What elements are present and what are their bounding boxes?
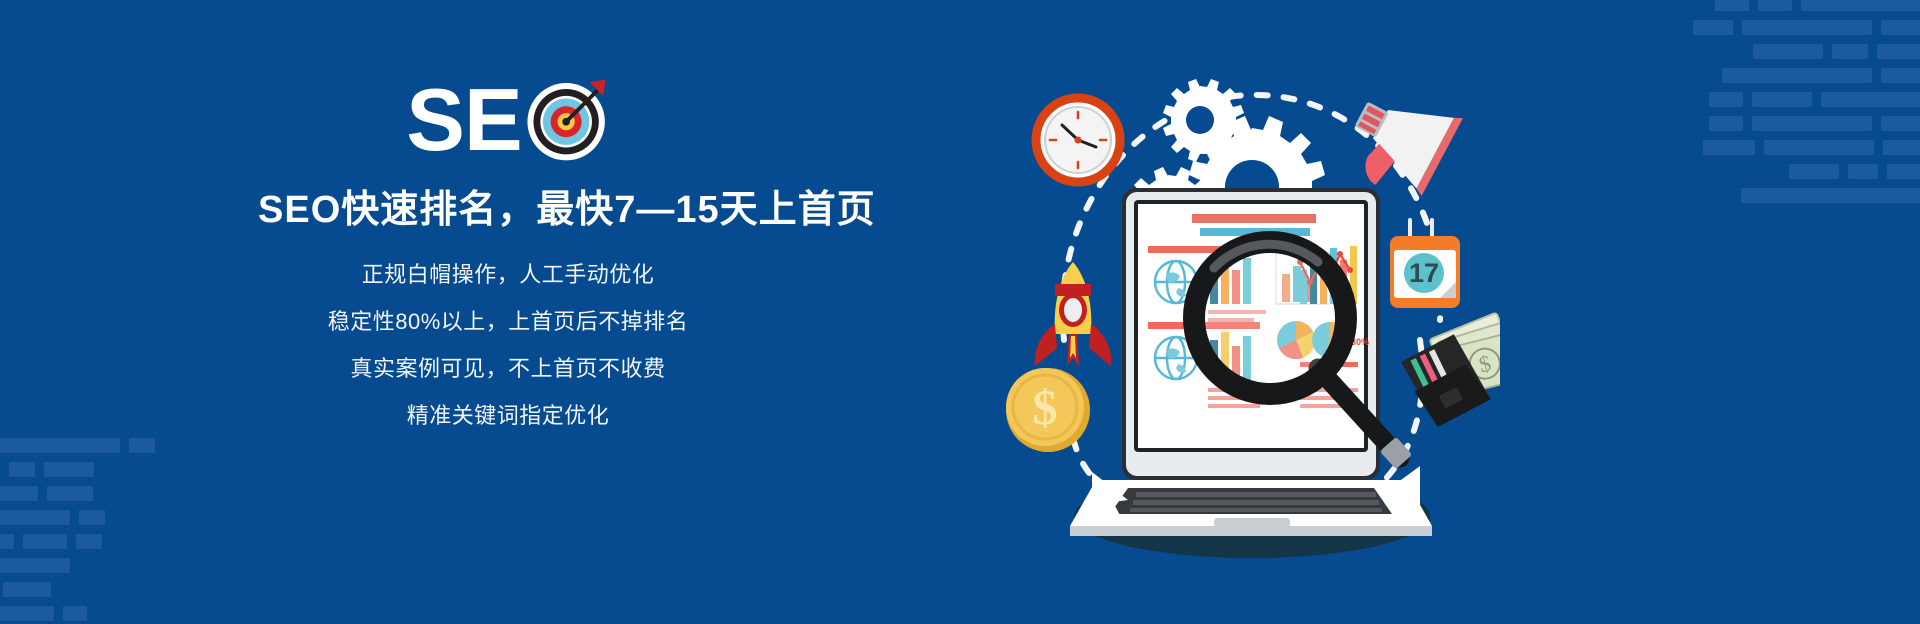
decor-code-block — [1883, 140, 1920, 155]
decor-code-row — [0, 606, 200, 621]
decor-code-row — [1670, 188, 1920, 203]
seo-illustration: 17 $ — [1000, 40, 1500, 600]
decor-code-block — [1693, 20, 1733, 35]
seo-promo-banner: SE SEO快速排名，最快7—15天上首页 — [0, 0, 1920, 624]
decor-code-block — [0, 558, 70, 573]
decor-code-row — [1670, 68, 1920, 83]
decor-code-block — [1789, 164, 1839, 179]
decor-code-block — [1832, 44, 1868, 59]
feature-line: 真实案例可见，不上首页不收费 — [258, 358, 758, 380]
dartboard-target-icon — [524, 77, 610, 163]
decor-code-block — [63, 606, 87, 621]
decor-code-block — [1741, 188, 1920, 203]
decor-code-row — [1670, 0, 1920, 11]
decor-code-row — [0, 510, 200, 525]
feature-line: 正规白帽操作，人工手动优化 — [258, 264, 758, 286]
decor-code-block — [1881, 116, 1920, 131]
decor-code-block — [79, 510, 105, 525]
decor-code-block — [1848, 164, 1878, 179]
decor-code-row — [1670, 164, 1920, 179]
decor-code-block — [47, 486, 93, 501]
decor-code-block — [1753, 44, 1823, 59]
decor-code-block — [1709, 92, 1743, 107]
decor-code-block — [76, 534, 102, 549]
decor-code-block — [1877, 44, 1920, 59]
decor-code-block — [1764, 140, 1874, 155]
feature-bullet-list: 正规白帽操作，人工手动优化 稳定性80%以上，上首页后不掉排名 真实案例可见，不… — [258, 264, 758, 427]
decor-code-row — [1670, 140, 1920, 155]
decor-code-row — [0, 582, 200, 597]
wallet-cash-icon: $ — [1395, 309, 1500, 431]
decor-code-row — [0, 534, 200, 549]
decor-code-block — [0, 510, 70, 525]
decor-code-row — [1670, 92, 1920, 107]
decor-code-block — [44, 462, 94, 477]
decor-code-block — [23, 534, 67, 549]
decor-code-block — [1752, 92, 1812, 107]
megaphone-icon — [1335, 75, 1463, 206]
decor-code-block — [129, 438, 155, 453]
decor-code-row — [0, 438, 200, 453]
decor-code-block — [1752, 116, 1872, 131]
rocket-icon — [1035, 262, 1112, 366]
decor-code-block — [1742, 20, 1872, 35]
decor-code-block — [1801, 0, 1920, 11]
decor-code-block — [1881, 68, 1920, 83]
decor-code-block — [9, 462, 35, 477]
decor-code-row — [0, 462, 200, 477]
dollar-coin-icon: $ — [1006, 368, 1090, 452]
page-headline: SEO快速排名，最快7—15天上首页 — [258, 188, 758, 234]
decor-code-block — [3, 582, 51, 597]
feature-line: 精准关键词指定优化 — [258, 405, 758, 427]
decor-code-block — [0, 534, 14, 549]
seo-logo: SE — [258, 74, 758, 166]
decor-code-block — [0, 486, 38, 501]
calendar-icon: 17 — [1390, 220, 1460, 308]
feature-line: 稳定性80%以上，上首页后不掉排名 — [258, 311, 758, 333]
calendar-day-label: 17 — [1409, 258, 1439, 288]
decor-code-row — [0, 486, 200, 501]
decor-code-row — [1670, 20, 1920, 35]
decor-code-block — [1703, 140, 1755, 155]
decor-code-block — [1709, 116, 1743, 131]
text-content-column: SE SEO快速排名，最快7—15天上首页 — [258, 74, 758, 427]
decor-code-block — [1715, 0, 1749, 11]
decor-code-block — [0, 438, 120, 453]
decor-code-block — [0, 606, 54, 621]
dollar-sign-label: $ — [1033, 379, 1058, 435]
decor-code-row — [1670, 44, 1920, 59]
decor-code-block — [1821, 92, 1920, 107]
decor-code-row — [1670, 116, 1920, 131]
clock-icon — [1036, 98, 1120, 182]
seo-logo-letters: SE — [406, 76, 521, 164]
decor-code-block — [1722, 68, 1872, 83]
decor-code-block — [1881, 20, 1920, 35]
decor-code-block — [1758, 0, 1792, 11]
decor-code-pattern-left — [0, 438, 200, 624]
decor-code-block — [1887, 164, 1920, 179]
decor-code-row — [0, 558, 200, 573]
decor-code-pattern-right — [1670, 0, 1920, 212]
